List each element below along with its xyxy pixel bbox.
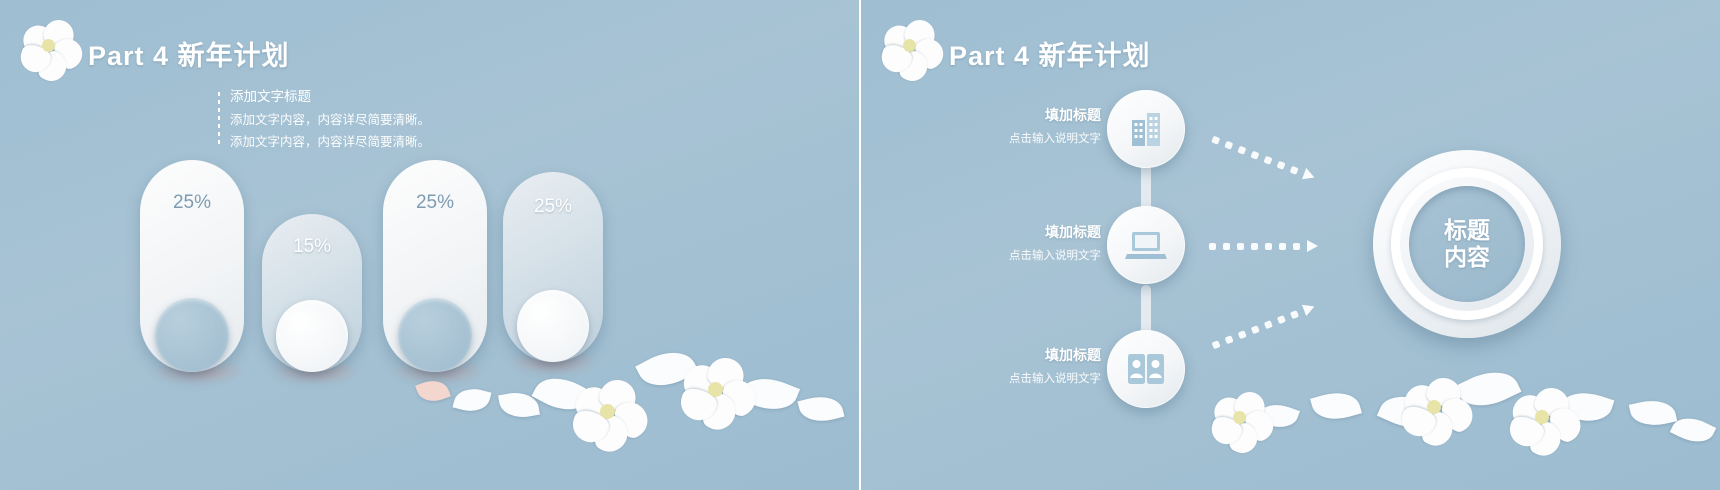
result-donut[interactable]: 标题 内容	[1373, 150, 1561, 338]
node-2[interactable]	[1107, 206, 1185, 284]
result-line-2: 内容	[1444, 244, 1490, 271]
node-3[interactable]	[1107, 330, 1185, 408]
bar-1-label: 25%	[140, 192, 244, 214]
arrow-1	[1210, 133, 1316, 183]
node-2-sub: 点击输入说明文字	[921, 247, 1101, 263]
slide-left: Part 4 新年计划 添加文字标题 添加文字内容，内容详尽简要清晰。 添加文字…	[0, 0, 859, 490]
laptop-icon	[1125, 229, 1167, 261]
bar-4-knob	[517, 290, 589, 362]
node-2-label: 填加标题 点击输入说明文字	[921, 222, 1101, 263]
node-3-sub: 点击输入说明文字	[921, 370, 1101, 386]
slide-deck: Part 4 新年计划 添加文字标题 添加文字内容，内容详尽简要清晰。 添加文字…	[0, 0, 1720, 490]
arrow-2	[1209, 240, 1318, 252]
flower-icon	[572, 380, 652, 456]
bar-4-label: 25%	[503, 196, 603, 218]
flower-icon	[1211, 392, 1279, 456]
bar-2-knob	[276, 300, 348, 372]
slide-right: Part 4 新年计划 填加标题 点击输入说明文字	[859, 0, 1720, 490]
node-1-sub: 点击输入说明文字	[921, 130, 1101, 146]
flower-icon	[1401, 378, 1477, 450]
building-icon	[1128, 110, 1164, 148]
result-line-1: 标题	[1444, 217, 1490, 244]
node-2-title: 填加标题	[921, 222, 1101, 242]
leaf-icon	[1310, 386, 1362, 426]
flower-icon	[1509, 388, 1585, 460]
node-1[interactable]	[1107, 90, 1185, 168]
bar-3-knob	[398, 298, 472, 372]
contacts-icon	[1126, 352, 1166, 386]
leaf-icon	[1629, 396, 1677, 431]
node-3-title: 填加标题	[921, 345, 1101, 365]
node-1-label: 填加标题 点击输入说明文字	[921, 105, 1101, 146]
arrow-3	[1210, 301, 1316, 351]
bar-3-label: 25%	[383, 192, 487, 214]
result-label: 标题 内容	[1409, 186, 1525, 302]
page-title: Part 4 新年计划	[949, 34, 1151, 73]
bar-2-label: 15%	[262, 236, 362, 258]
flower-icon	[680, 358, 760, 434]
node-1-title: 填加标题	[921, 105, 1101, 125]
slide-right-header: Part 4 新年计划	[881, 20, 1151, 86]
flower-icon	[881, 20, 949, 86]
bar-1-knob	[155, 298, 229, 372]
node-3-label: 填加标题 点击输入说明文字	[921, 345, 1101, 386]
leaf-icon	[1670, 410, 1716, 449]
